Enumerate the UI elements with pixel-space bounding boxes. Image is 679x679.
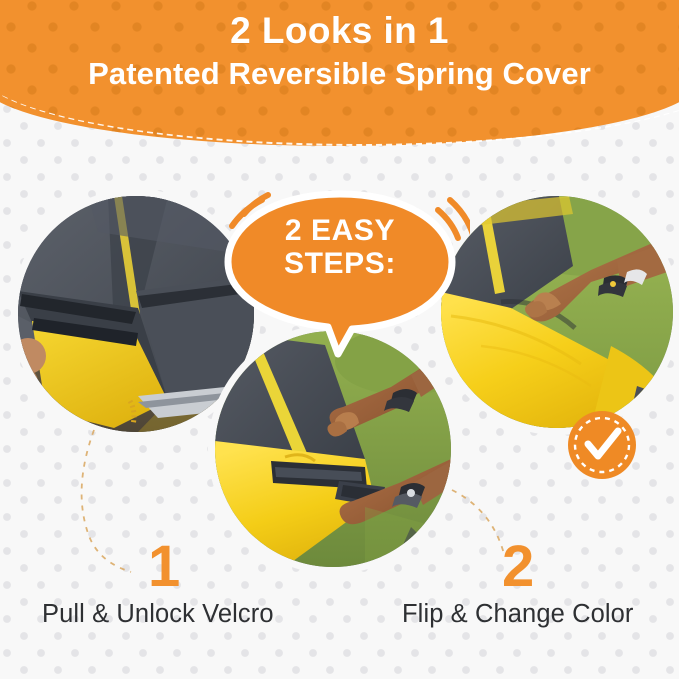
speech-bubble: 2 EASY STEPS:	[210, 180, 470, 365]
step-caption-1: Pull & Unlock Velcro	[42, 600, 274, 629]
middle-photo	[215, 331, 451, 567]
check-circle-art	[563, 406, 641, 484]
middle-photo-art	[215, 331, 451, 567]
step-2-photo	[441, 196, 673, 428]
step-number-2: 2	[502, 538, 534, 596]
check-circle-icon	[563, 406, 641, 484]
step-caption-2: Flip & Change Color	[402, 600, 634, 629]
infographic-canvas: 2 Looks in 1 Patented Reversible Spring …	[0, 0, 679, 679]
callout-line-1: 2 EASY	[285, 214, 395, 247]
step-2-photo-art	[441, 196, 673, 428]
connector-line-1	[82, 430, 131, 572]
connector-line-2	[452, 490, 504, 554]
header-dashed-arc	[0, 0, 679, 146]
speech-bubble-text: 2 EASY STEPS:	[210, 216, 470, 280]
callout-line-2: STEPS:	[210, 249, 470, 280]
step-number-1: 1	[148, 538, 180, 596]
